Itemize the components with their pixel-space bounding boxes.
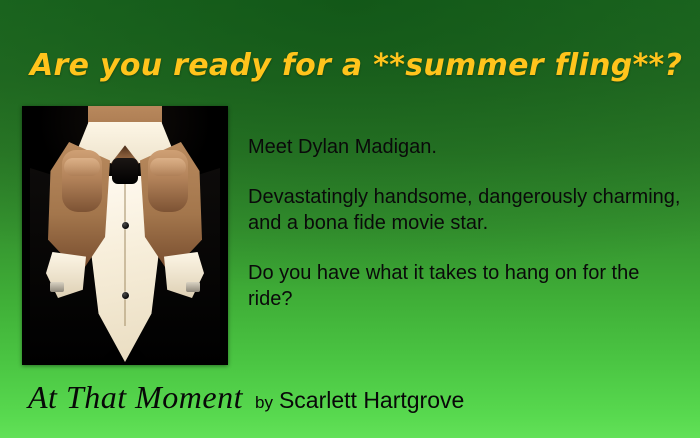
body-paragraph-2: Devastatingly handsome, dangerously char… — [248, 184, 686, 236]
knuckles-right — [150, 158, 186, 176]
book-promo-card: Are you ready for a **summer fling**? — [0, 0, 700, 438]
knuckles-left — [64, 158, 100, 176]
promo-body-copy: Meet Dylan Madigan. Devastatingly handso… — [248, 134, 686, 312]
byline-preposition: by — [255, 393, 273, 413]
bow-tie-knot — [112, 158, 138, 184]
shirt-stud-upper — [122, 222, 129, 229]
shirt-stud-lower — [122, 292, 129, 299]
cufflink-right — [186, 282, 200, 292]
cufflink-left — [50, 282, 64, 292]
tuxedo-photo-scene — [22, 106, 228, 365]
body-paragraph-1: Meet Dylan Madigan. — [248, 134, 686, 160]
cover-photo — [22, 106, 228, 365]
shirt-placket — [124, 176, 126, 326]
book-title: At That Moment — [28, 379, 243, 416]
author-name: Scarlett Hartgrove — [279, 387, 464, 414]
book-credit-line: At That Moment by Scarlett Hartgrove — [28, 379, 464, 416]
promo-headline: Are you ready for a **summer fling**? — [30, 48, 680, 83]
body-paragraph-3: Do you have what it takes to hang on for… — [248, 260, 686, 312]
